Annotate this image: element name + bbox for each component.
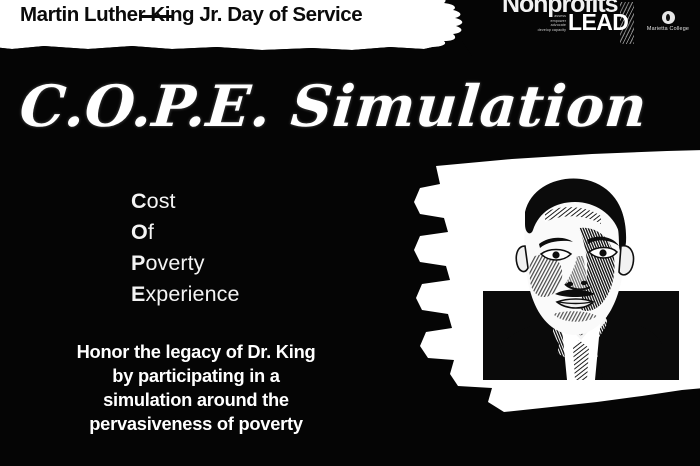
- logo-hatch-divider-icon: [620, 2, 634, 44]
- tagline-line: develop capacity: [514, 28, 566, 33]
- acronym-rest: ost: [147, 189, 176, 213]
- blurb-line: Honor the legacy of Dr. King: [36, 340, 356, 364]
- banner-title: Martin Luther King Jr. Day of Service: [20, 2, 430, 28]
- marietta-college-logo: Marietta College: [640, 11, 696, 32]
- acronym-initial: P: [131, 251, 145, 275]
- blurb-line: by participating in a: [36, 364, 356, 388]
- poster-canvas: Martin Luther King Jr. Day of Service No…: [0, 0, 700, 466]
- acronym-rest: xperience: [145, 282, 239, 306]
- acronym-initial: E: [131, 282, 145, 306]
- blurb-line: pervasiveness of poverty: [36, 412, 356, 436]
- mlk-portrait-artwork: [483, 168, 679, 380]
- marietta-college-name: Marietta College: [640, 26, 696, 32]
- nonprofits-lead-logo: Nonprofits assess empower advocate devel…: [496, 0, 624, 46]
- acronym-initial: O: [131, 220, 148, 244]
- acronym-row-of: Of: [131, 217, 240, 248]
- blurb-line: simulation around the: [36, 388, 356, 412]
- acronym-list: Cost Of Poverty Experience: [131, 186, 240, 310]
- banner-strikethrough-mark: [139, 15, 172, 18]
- acronym-rest: f: [148, 220, 154, 244]
- acronym-row-experience: Experience: [131, 279, 240, 310]
- acronym-row-poverty: Poverty: [131, 248, 240, 279]
- call-to-action-text: Honor the legacy of Dr. King by particip…: [36, 340, 356, 436]
- acronym-rest: overty: [145, 251, 204, 275]
- nonprofits-tagline: assess empower advocate develop capacity: [514, 14, 566, 32]
- marietta-college-seal-icon: [662, 11, 675, 24]
- mlk-portrait: [483, 168, 679, 380]
- logo-lockup: Nonprofits assess empower advocate devel…: [496, 0, 696, 48]
- acronym-initial: C: [131, 189, 147, 213]
- acronym-row-cost: Cost: [131, 186, 240, 217]
- page-title: C.O.P.E. Simulation: [17, 70, 650, 144]
- header-banner: Martin Luther King Jr. Day of Service: [0, 0, 472, 56]
